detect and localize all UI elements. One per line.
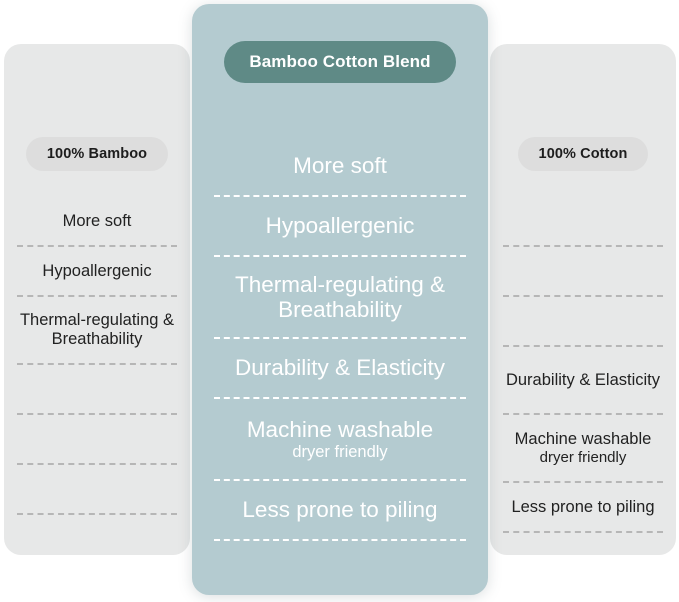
column-header-blend: Bamboo Cotton Blend [192, 41, 488, 83]
feature-label: Thermal-regulating & Breathability [214, 272, 466, 323]
column-title-cotton: 100% Cotton [518, 137, 649, 171]
feature-row: Hypoallergenic [214, 197, 466, 257]
feature-row: Durability & Elasticity [214, 339, 466, 399]
feature-label: Machine washable [515, 430, 652, 449]
feature-row: Machine washable dryer friendly [503, 415, 663, 483]
comparison-board: 100% Bamboo More soft Hypoallergenic The… [0, 0, 679, 602]
feature-label: More soft [63, 212, 132, 231]
feature-row-empty [17, 415, 177, 465]
comparison-column-cotton: 100% Cotton Durability & Elasticity Mach… [490, 44, 676, 555]
comparison-column-bamboo: 100% Bamboo More soft Hypoallergenic The… [4, 44, 190, 555]
feature-label: Hypoallergenic [42, 262, 151, 281]
feature-label: Durability & Elasticity [506, 371, 660, 390]
feature-row-empty [17, 465, 177, 515]
feature-row: Machine washable dryer friendly [214, 399, 466, 481]
feature-label: Machine washable [247, 417, 433, 442]
feature-label: Hypoallergenic [266, 213, 415, 238]
feature-row-empty [503, 197, 663, 247]
feature-row-empty [17, 365, 177, 415]
feature-label: Less prone to piling [511, 498, 654, 517]
column-header-bamboo: 100% Bamboo [4, 137, 190, 171]
feature-row-empty [503, 247, 663, 297]
feature-row: Less prone to piling [214, 481, 466, 541]
feature-label: Thermal-regulating & Breathability [17, 311, 177, 348]
feature-row: Less prone to piling [503, 483, 663, 533]
feature-list-blend: More soft Hypoallergenic Thermal-regulat… [192, 137, 488, 541]
feature-row: Thermal-regulating & Breathability [17, 297, 177, 365]
feature-row: More soft [17, 197, 177, 247]
feature-sublabel: dryer friendly [292, 443, 387, 461]
feature-row: Hypoallergenic [17, 247, 177, 297]
feature-label: Durability & Elasticity [235, 355, 445, 380]
column-title-blend: Bamboo Cotton Blend [224, 41, 455, 83]
feature-list-bamboo: More soft Hypoallergenic Thermal-regulat… [4, 197, 190, 515]
feature-list-cotton: Durability & Elasticity Machine washable… [490, 197, 676, 533]
feature-row: Thermal-regulating & Breathability [214, 257, 466, 339]
comparison-column-blend: Bamboo Cotton Blend More soft Hypoallerg… [192, 4, 488, 595]
feature-row-empty [503, 297, 663, 347]
feature-row: Durability & Elasticity [503, 347, 663, 415]
feature-label: More soft [293, 153, 387, 178]
feature-sublabel: dryer friendly [540, 450, 627, 467]
column-title-bamboo: 100% Bamboo [26, 137, 168, 171]
feature-label: Less prone to piling [242, 497, 437, 522]
column-header-cotton: 100% Cotton [490, 137, 676, 171]
feature-row: More soft [214, 137, 466, 197]
